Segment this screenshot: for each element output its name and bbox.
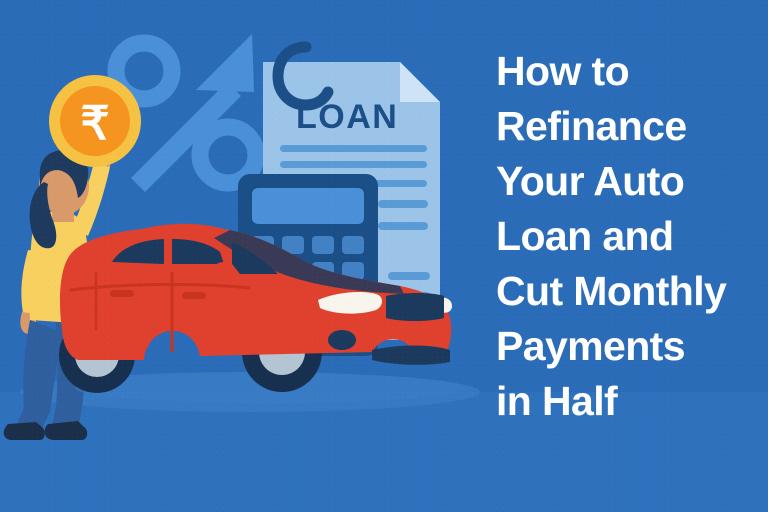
car-side-mirror <box>213 262 235 278</box>
car-door-handle-front <box>182 292 206 299</box>
car-bumper-intake <box>372 346 450 365</box>
car-door-handle-rear <box>110 290 134 297</box>
title-line: Refinance <box>496 99 764 154</box>
poster-title: How to Refinance Your Auto Loan and Cut … <box>496 44 764 429</box>
title-line: Your Auto <box>496 154 764 209</box>
title-line: How to <box>496 44 764 99</box>
title-line: Payments <box>496 319 764 374</box>
car-fog-lamp <box>328 330 356 350</box>
title-line: Cut Monthly <box>496 264 764 319</box>
title-line: in Half <box>496 374 764 429</box>
poster-canvas: LOAN <box>0 0 768 512</box>
car-grille <box>386 293 444 321</box>
title-line: Loan and <box>496 209 764 264</box>
